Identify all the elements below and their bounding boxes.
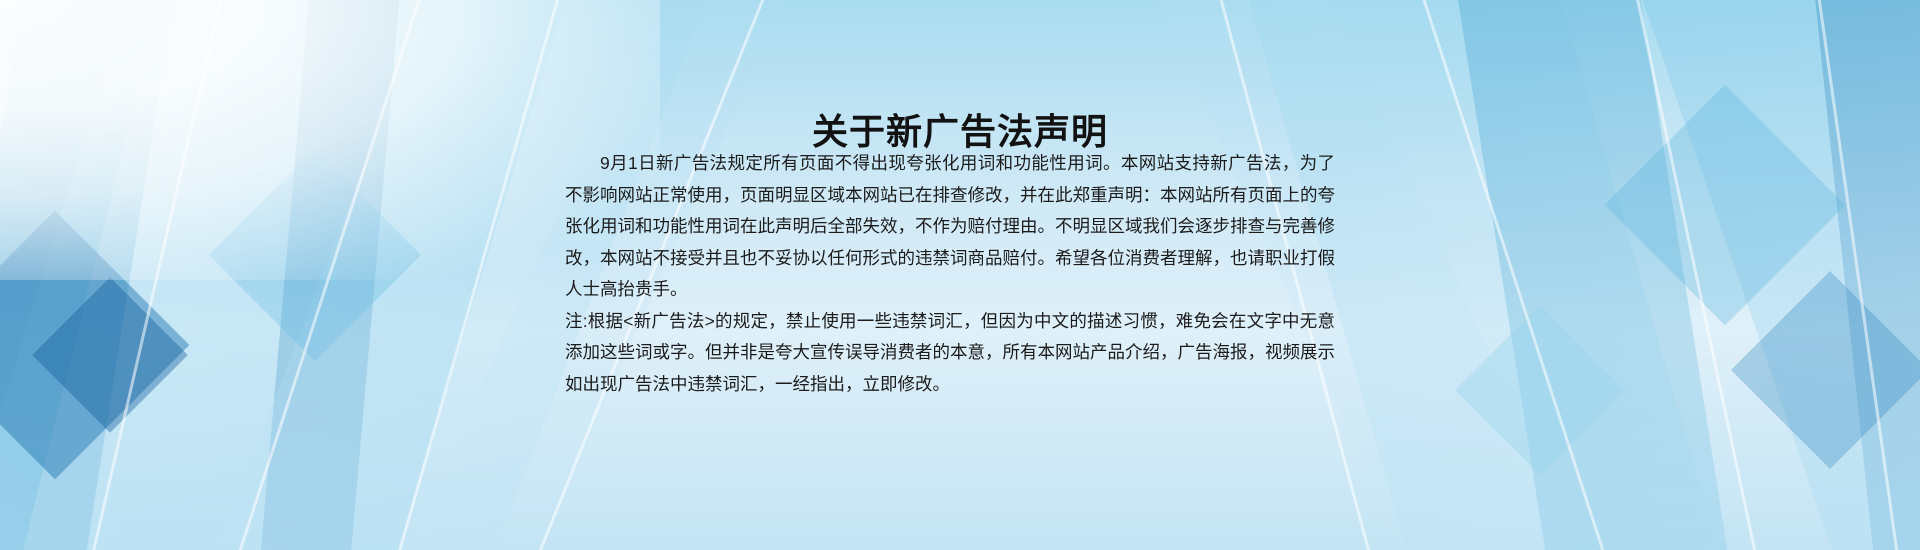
light-streak-1 [38,0,266,550]
advertising-law-statement-banner: 关于新广告法声明 9月1日新广告法规定所有页面不得出现夸张化用词和功能性用词。本… [0,0,1920,550]
statement-content: 关于新广告法声明 9月1日新广告法规定所有页面不得出现夸张化用词和功能性用词。本… [565,0,1355,550]
diamond-accent-4 [1605,85,1845,325]
diamond-accent-1 [0,211,189,480]
diagonal-shape-3 [0,0,602,550]
light-streak-6 [1366,0,1678,550]
light-streak-2 [166,0,478,550]
diagonal-shape-4 [234,0,420,550]
center-glow [0,0,660,280]
statement-paragraph-main: 9月1日新广告法规定所有页面不得出现夸张化用词和功能性用词。本网站支持新广告法，… [565,148,1335,306]
light-streak-7 [1596,0,1807,550]
diagonal-shape-11 [1790,0,1920,550]
statement-body: 9月1日新广告法规定所有页面不得出现夸张化用词和功能性用词。本网站支持新广告法，… [565,148,1335,400]
diagonal-shape-2 [0,0,208,550]
light-streak-8 [1790,0,1920,550]
diamond-accent-3 [209,149,421,361]
diamond-accent-2 [32,277,188,433]
statement-paragraph-note: 注:根据<新广告法>的规定，禁止使用一些违禁词汇，但因为中文的描述习惯，难免会在… [565,306,1335,401]
diagonal-shape-9 [1420,0,1770,550]
diamond-accent-6 [1455,305,1625,475]
diagonal-shape-10 [1560,0,1920,550]
diamond-accent-5 [1731,271,1920,469]
diagonal-shape-1 [0,0,200,550]
